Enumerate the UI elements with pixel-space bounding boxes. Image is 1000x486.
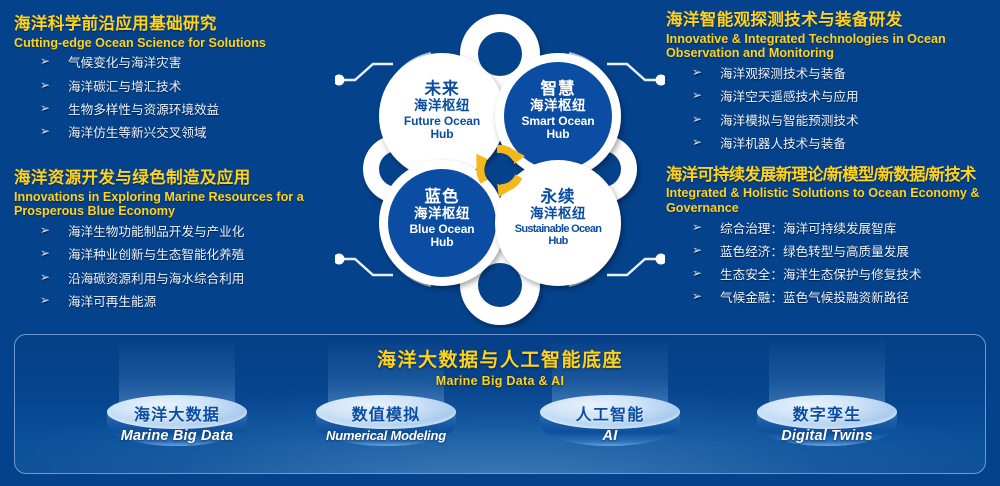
list-item: ➢海洋生物功能制品开发与产业化 bbox=[40, 225, 344, 248]
list-item-label: 海洋机器人技术与装备 bbox=[720, 137, 846, 151]
list-item-label: 海洋生物功能制品开发与产业化 bbox=[68, 225, 244, 239]
arrow-bullet-icon: ➢ bbox=[692, 221, 702, 234]
list-item-label: 生物多样性与资源环境效益 bbox=[68, 103, 219, 117]
list-item-label: 沿海碳资源利用与海水综合利用 bbox=[68, 272, 244, 286]
list-item: ➢海洋模拟与智能预测技术 bbox=[692, 114, 996, 137]
bullet-list: ➢海洋生物功能制品开发与产业化 ➢海洋种业创新与生态智能化养殖 ➢沿海碳资源利用… bbox=[14, 225, 344, 317]
section-title-cn: 海洋智能观探测技术与装备研发 bbox=[666, 10, 996, 31]
list-item: ➢生物多样性与资源环境效益 bbox=[40, 103, 344, 126]
section-title-en: Integrated & Holistic Solutions to Ocean… bbox=[666, 186, 996, 216]
pillar-label-cn: 人工智能 bbox=[540, 401, 680, 425]
pillar-label-en: Digital Twins bbox=[751, 428, 903, 444]
list-item-label: 海洋种业创新与生态智能化养殖 bbox=[68, 248, 244, 262]
connector-right-bottom bbox=[607, 254, 665, 276]
list-item-label: 海洋可再生能源 bbox=[68, 295, 156, 309]
pillar-label-en: AI bbox=[534, 428, 686, 444]
hub-svg bbox=[335, 8, 665, 328]
list-item: ➢沿海碳资源利用与海水综合利用 bbox=[40, 272, 344, 295]
list-item: ➢气候变化与海洋灾害 bbox=[40, 56, 344, 79]
section-title-cn: 海洋资源开发与绿色制造及应用 bbox=[14, 168, 344, 189]
bullet-list: ➢综合治理：海洋可持续发展智库 ➢蓝色经济：绿色转型与高质量发展 ➢生态安全：海… bbox=[666, 222, 996, 314]
list-item: ➢海洋观探测技术与装备 bbox=[692, 67, 996, 90]
platform-panel: 海洋大数据与人工智能底座 Marine Big Data & AI 海洋大数据 … bbox=[14, 334, 986, 474]
arrow-bullet-icon: ➢ bbox=[40, 294, 50, 307]
platform-title-cn: 海洋大数据与人工智能底座 bbox=[15, 345, 985, 372]
list-item: ➢海洋种业创新与生态智能化养殖 bbox=[40, 248, 344, 271]
pillar-label-en: Marine Big Data bbox=[101, 428, 253, 444]
list-item: ➢海洋机器人技术与装备 bbox=[692, 137, 996, 160]
list-item-label: 蓝色经济：绿色转型与高质量发展 bbox=[720, 245, 909, 259]
list-item: ➢海洋碳汇与增汇技术 bbox=[40, 80, 344, 103]
cylinder: 数字孪生 Digital Twins bbox=[757, 395, 897, 457]
connector-left-bottom bbox=[335, 254, 393, 276]
list-item: ➢海洋空天遥感技术与应用 bbox=[692, 90, 996, 113]
list-item: ➢蓝色经济：绿色转型与高质量发展 bbox=[692, 245, 996, 268]
list-item: ➢气候金融：蓝色气候投融资新路径 bbox=[692, 291, 996, 314]
arrow-bullet-icon: ➢ bbox=[692, 244, 702, 257]
bullet-list: ➢气候变化与海洋灾害 ➢海洋碳汇与增汇技术 ➢生物多样性与资源环境效益 ➢海洋仿… bbox=[14, 56, 344, 148]
infographic-root: 海洋科学前沿应用基础研究 Cutting-edge Ocean Science … bbox=[0, 0, 1000, 486]
arrow-bullet-icon: ➢ bbox=[40, 247, 50, 260]
pillar-label-cn: 海洋大数据 bbox=[107, 401, 247, 425]
section-title-cn: 海洋可持续发展新理论/新模型/新数据/新技术 bbox=[666, 165, 996, 185]
arrow-bullet-icon: ➢ bbox=[40, 125, 50, 138]
list-item-label: 海洋观探测技术与装备 bbox=[720, 67, 846, 81]
arrow-bullet-icon: ➢ bbox=[692, 136, 702, 149]
pillar-label-en: Numerical Modeling bbox=[310, 428, 462, 443]
arrow-bullet-icon: ➢ bbox=[692, 89, 702, 102]
platform-title: 海洋大数据与人工智能底座 Marine Big Data & AI bbox=[15, 345, 985, 388]
arrow-bullet-icon: ➢ bbox=[692, 66, 702, 79]
section-cutting-edge-ocean-science: 海洋科学前沿应用基础研究 Cutting-edge Ocean Science … bbox=[14, 14, 344, 149]
section-title-en: Cutting-edge Ocean Science for Solutions bbox=[14, 36, 344, 51]
cylinder: 人工智能 AI bbox=[540, 395, 680, 457]
section-title-en: Innovative & Integrated Technologies in … bbox=[666, 32, 996, 62]
list-item-label: 海洋空天遥感技术与应用 bbox=[720, 90, 859, 104]
arrow-bullet-icon: ➢ bbox=[40, 224, 50, 237]
arrow-bullet-icon: ➢ bbox=[692, 267, 702, 280]
section-ocean-governance: 海洋可持续发展新理论/新模型/新数据/新技术 Integrated & Holi… bbox=[666, 165, 996, 314]
pillar-label-cn: 数值模拟 bbox=[316, 401, 456, 425]
list-item: ➢生态安全：海洋生态保护与修复技术 bbox=[692, 268, 996, 291]
list-item: ➢海洋仿生等新兴交叉领域 bbox=[40, 126, 344, 149]
list-item-label: 生态安全：海洋生态保护与修复技术 bbox=[720, 268, 922, 282]
connector-right-top bbox=[607, 64, 665, 86]
hub-diagram: 未来 海洋枢纽 Future Ocean Hub 智慧 海洋枢纽 Smart O… bbox=[335, 8, 665, 328]
arrow-bullet-icon: ➢ bbox=[40, 102, 50, 115]
bullet-list: ➢海洋观探测技术与装备 ➢海洋空天遥感技术与应用 ➢海洋模拟与智能预测技术 ➢海… bbox=[666, 67, 996, 159]
arrow-bullet-icon: ➢ bbox=[692, 290, 702, 303]
list-item-label: 海洋仿生等新兴交叉领域 bbox=[68, 126, 207, 140]
arrow-bullet-icon: ➢ bbox=[692, 113, 702, 126]
hub-node-blue-ocean[interactable] bbox=[388, 169, 496, 277]
list-item: ➢综合治理：海洋可持续发展智库 bbox=[692, 222, 996, 245]
list-item-label: 气候金融：蓝色气候投融资新路径 bbox=[720, 291, 909, 305]
platform-title-en: Marine Big Data & AI bbox=[15, 374, 985, 388]
section-title-cn: 海洋科学前沿应用基础研究 bbox=[14, 14, 344, 35]
list-item-label: 海洋模拟与智能预测技术 bbox=[720, 114, 859, 128]
connector-left-top bbox=[335, 64, 393, 86]
cylinder: 数值模拟 Numerical Modeling bbox=[316, 395, 456, 457]
arrow-bullet-icon: ➢ bbox=[40, 79, 50, 92]
list-item-label: 气候变化与海洋灾害 bbox=[68, 56, 181, 70]
list-item-label: 综合治理：海洋可持续发展智库 bbox=[720, 222, 896, 236]
cylinder: 海洋大数据 Marine Big Data bbox=[107, 395, 247, 457]
list-item: ➢海洋可再生能源 bbox=[40, 295, 344, 318]
section-title-en: Innovations in Exploring Marine Resource… bbox=[14, 190, 344, 220]
section-ocean-observation: 海洋智能观探测技术与装备研发 Innovative & Integrated T… bbox=[666, 10, 996, 160]
pillar-label-cn: 数字孪生 bbox=[757, 401, 897, 425]
list-item-label: 海洋碳汇与增汇技术 bbox=[68, 80, 181, 94]
arrow-bullet-icon: ➢ bbox=[40, 55, 50, 68]
section-marine-resources: 海洋资源开发与绿色制造及应用 Innovations in Exploring … bbox=[14, 168, 344, 318]
arrow-bullet-icon: ➢ bbox=[40, 271, 50, 284]
